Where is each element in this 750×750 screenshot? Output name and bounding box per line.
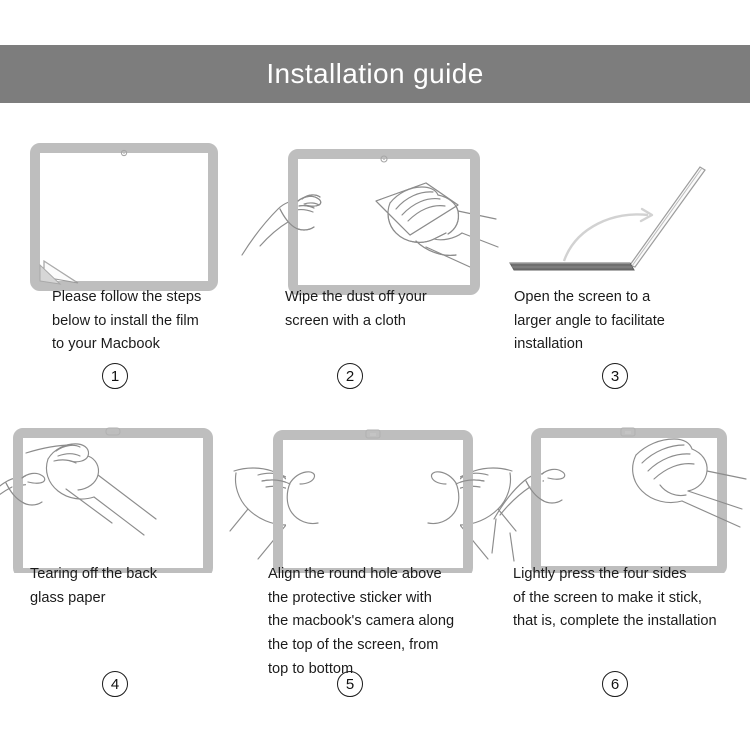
step-caption-3: Open the screen to a larger angle to fac… bbox=[514, 286, 665, 357]
step-caption-5: Align the round hole above the protectiv… bbox=[268, 563, 454, 681]
step-card-2: Wipe the dust off your screen with a clo… bbox=[250, 103, 500, 415]
step-badge-1: 1 bbox=[102, 363, 128, 389]
illustration-tablet-held-by-two-hands-aligning-film bbox=[228, 423, 518, 583]
step-card-1: Please follow the steps below to install… bbox=[0, 103, 250, 415]
step-caption-6: Lightly press the four sides of the scre… bbox=[513, 563, 717, 634]
illustration-tablet-with-peeling-film-corner bbox=[30, 143, 220, 303]
steps-grid: Please follow the steps below to install… bbox=[0, 103, 750, 750]
illustration-tablet-wiped-with-cloth-by-hand bbox=[230, 143, 505, 303]
step-badge-5: 5 bbox=[337, 671, 363, 697]
step-card-4: Tearing off the back glass paper 4 bbox=[0, 415, 250, 750]
illustration-tablet-hand-tearing-back-paper bbox=[0, 423, 250, 583]
step-card-3: Open the screen to a larger angle to fac… bbox=[500, 103, 750, 415]
step-caption-1: Please follow the steps below to install… bbox=[52, 286, 201, 357]
step-card-6: Lightly press the four sides of the scre… bbox=[500, 415, 750, 750]
page-title: Installation guide bbox=[266, 60, 483, 88]
step-badge-3: 3 bbox=[602, 363, 628, 389]
step-badge-4: 4 bbox=[102, 671, 128, 697]
step-badge-6: 6 bbox=[602, 671, 628, 697]
step-card-5: Align the round hole above the protectiv… bbox=[250, 415, 500, 750]
step-caption-4: Tearing off the back glass paper bbox=[30, 563, 157, 610]
illustration-tablet-hand-pressing-screen-flat bbox=[488, 423, 750, 583]
installation-guide-page: Installation guide P bbox=[0, 0, 750, 750]
step-caption-2: Wipe the dust off your screen with a clo… bbox=[285, 286, 427, 333]
step-badge-2: 2 bbox=[337, 363, 363, 389]
header-bar: Installation guide bbox=[0, 45, 750, 103]
